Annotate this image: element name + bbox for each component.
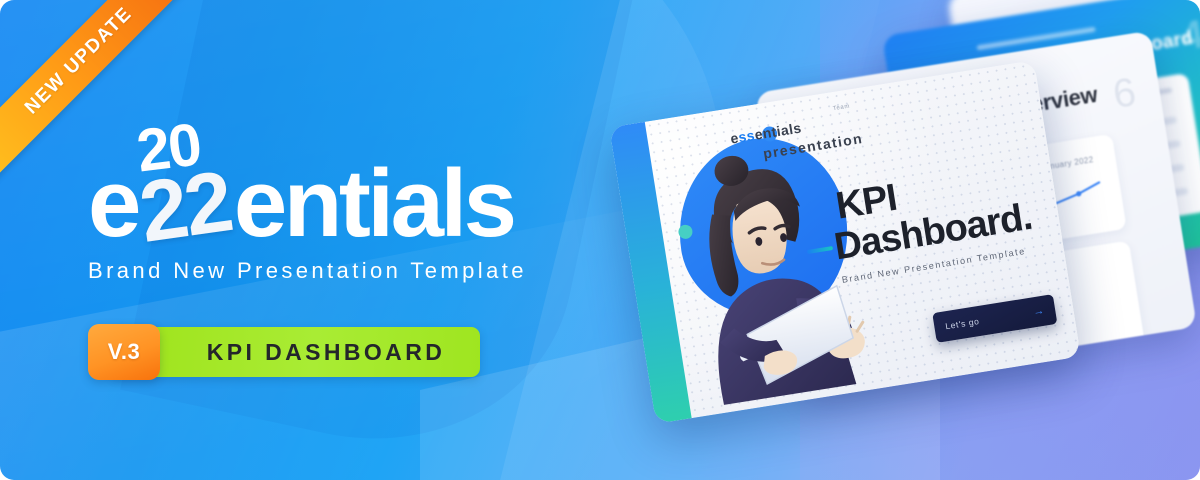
cta-group[interactable]: KPI DASHBOARD V.3 (88, 324, 480, 380)
version-badge: V.3 (88, 324, 160, 380)
headline-subtitle: Brand New Presentation Template (88, 258, 558, 284)
arrow-right-icon: → (1032, 305, 1045, 319)
logo-letter-e: e (88, 156, 138, 252)
logo-year-bottom: 22 (134, 158, 235, 256)
slide-mockup-kpi-front: Team essentials presentation (609, 60, 1081, 424)
slide3-page-number: 4 (1178, 12, 1200, 60)
promo-banner: NEW UPDATE eentials 20 22 Brand New Pres… (0, 0, 1200, 480)
cta-label: KPI DASHBOARD (207, 339, 445, 366)
lets-go-label: Let's go (945, 316, 980, 331)
version-badge-label: V.3 (108, 339, 141, 365)
headline-block: eentials 20 22 Brand New Presentation Te… (88, 118, 558, 380)
logo-suffix: entials (234, 156, 514, 252)
slide-stack: New Progress KPI Dashboard 4 (600, 0, 1200, 480)
character-illustration (632, 118, 901, 421)
ribbon-label: NEW UPDATE (21, 3, 137, 119)
essentials-logo: eentials 20 22 (88, 118, 558, 246)
cta-button[interactable]: KPI DASHBOARD (110, 327, 480, 377)
